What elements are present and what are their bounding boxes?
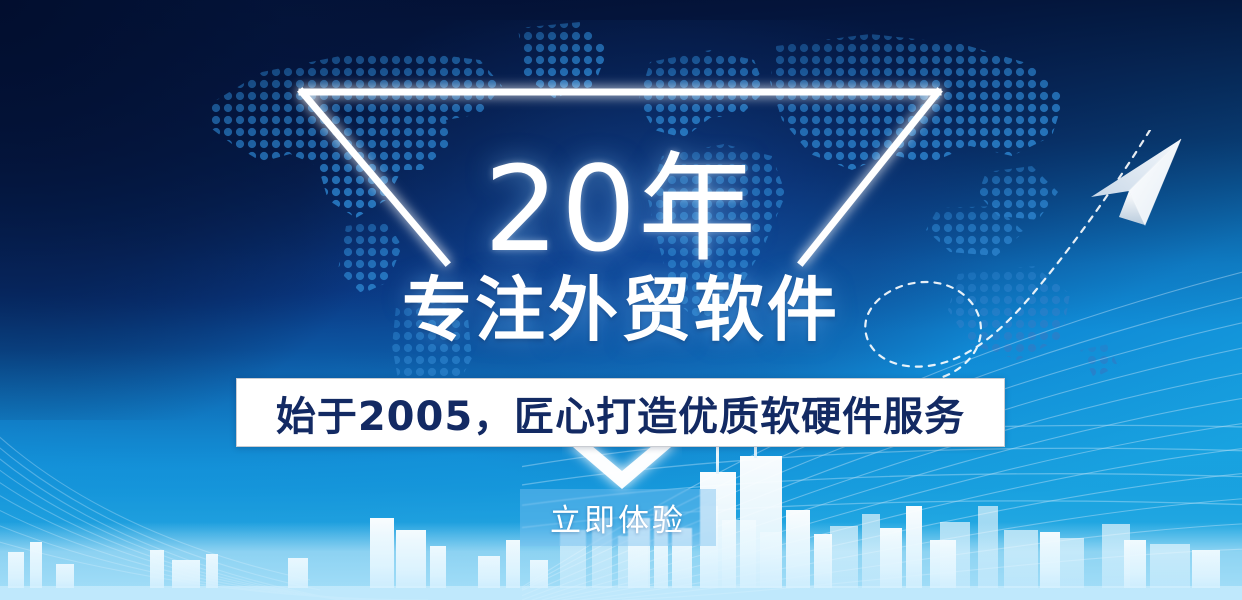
headline-block: 20年 专注外贸软件 xyxy=(0,150,1242,348)
tagline-bar: 始于2005，匠心打造优质软硬件服务 xyxy=(236,378,1005,447)
headline-sub-text: 专注外贸软件 xyxy=(0,274,1242,348)
headline-main-text: 20年 xyxy=(0,150,1242,268)
promo-banner: 20年 专注外贸软件 始于2005，匠心打造优质软硬件服务 立即体验 xyxy=(0,0,1242,600)
try-now-button-label: 立即体验 xyxy=(550,495,686,540)
tagline-text: 始于2005，匠心打造优质软硬件服务 xyxy=(276,384,965,442)
try-now-button[interactable]: 立即体验 xyxy=(520,489,716,546)
